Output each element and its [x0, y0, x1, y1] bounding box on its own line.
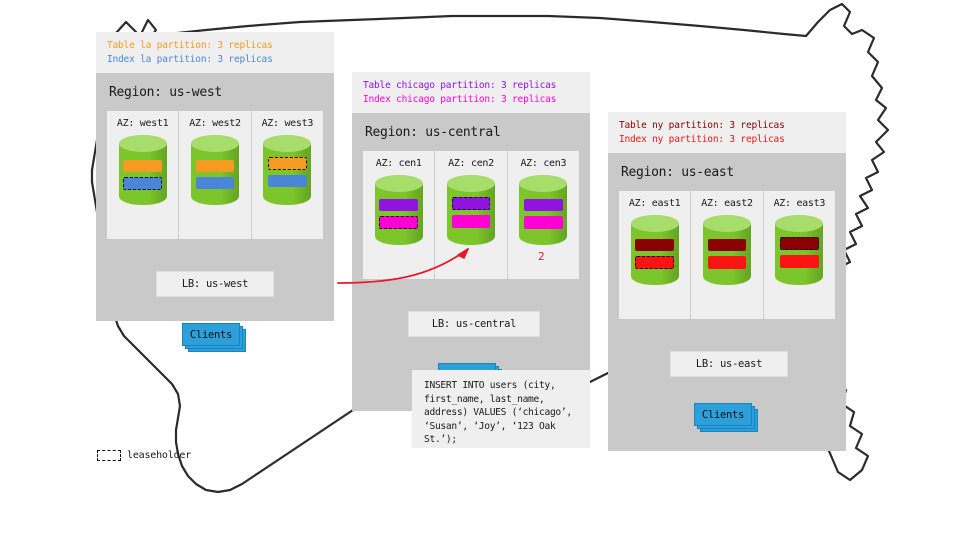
legend-line-index: Index la partition: 3 replicas: [107, 53, 324, 67]
leaseholder-key-label: leaseholder: [127, 450, 191, 461]
replica-band-index-leaseholder: [123, 177, 161, 190]
cylinder-body: [703, 223, 751, 285]
az-box-east2[interactable]: AZ: east2: [691, 191, 763, 319]
cylinder-top: [775, 215, 823, 232]
az-label: AZ: cen2: [435, 158, 506, 169]
az-box-west1[interactable]: AZ: west1: [107, 111, 179, 239]
clients-label[interactable]: Clients: [182, 323, 240, 346]
az-label: AZ: east3: [764, 198, 835, 209]
database-cylinder-cen1[interactable]: [375, 175, 423, 251]
replica-band-index: [268, 175, 306, 187]
replica-band-table: [379, 199, 417, 211]
az-label: AZ: cen1: [363, 158, 434, 169]
region-cluster-us-west: Table la partition: 3 replicas Index la …: [96, 32, 334, 321]
region-cluster-us-east: Table ny partition: 3 replicas Index ny …: [608, 112, 846, 451]
az-label: AZ: cen3: [508, 158, 579, 169]
database-cylinder-east3[interactable]: [775, 215, 823, 291]
replica-band-table-leaseholder: [268, 157, 306, 170]
leaseholder-swatch-icon: [97, 450, 121, 461]
az-label: AZ: west3: [252, 118, 323, 129]
legend-band-us-central: Table chicago partition: 3 replicas Inde…: [352, 72, 590, 113]
replica-band-table: [635, 239, 673, 251]
cylinder-top: [191, 135, 239, 152]
az-row-us-central: AZ: cen1 AZ: cen2: [363, 151, 579, 279]
region-title: Region: us-west: [109, 85, 323, 100]
cylinder-top: [119, 135, 167, 152]
database-cylinder-west2[interactable]: [191, 135, 239, 211]
replica-band-index-leaseholder: [379, 216, 417, 229]
replica-band-table: [196, 160, 234, 172]
database-cylinder-west1[interactable]: [119, 135, 167, 211]
legend-line-table: Table ny partition: 3 replicas: [619, 119, 836, 133]
replica-band-index: [452, 215, 490, 228]
replica-band-table: [708, 239, 746, 251]
cylinder-top: [631, 215, 679, 232]
replica-band-table-leaseholder: [452, 197, 490, 210]
diagram-canvas: Table la partition: 3 replicas Index la …: [0, 0, 960, 540]
region-title: Region: us-central: [365, 125, 579, 140]
cylinder-top: [703, 215, 751, 232]
region-panel-us-east: Region: us-east AZ: east1 AZ: east2: [608, 153, 846, 451]
az-box-west3[interactable]: AZ: west3: [252, 111, 323, 239]
cylinder-body: [191, 143, 239, 205]
database-cylinder-cen2[interactable]: [447, 175, 495, 251]
legend-line-index: Index ny partition: 3 replicas: [619, 133, 836, 147]
database-cylinder-east2[interactable]: [703, 215, 751, 291]
database-cylinder-cen3[interactable]: [519, 175, 567, 251]
az-label: AZ: east1: [619, 198, 690, 209]
legend-line-index: Index chicago partition: 3 replicas: [363, 93, 580, 107]
region-cluster-us-central: Table chicago partition: 3 replicas Inde…: [352, 72, 590, 411]
legend-band-us-west: Table la partition: 3 replicas Index la …: [96, 32, 334, 73]
az-box-east3[interactable]: AZ: east3: [764, 191, 835, 319]
az-label: AZ: east2: [691, 198, 762, 209]
cylinder-body: [447, 183, 495, 245]
cylinder-body: [519, 183, 567, 245]
replica-band-table: [524, 199, 562, 211]
replica-band-table: [123, 160, 161, 172]
az-box-cen2[interactable]: AZ: cen2: [435, 151, 507, 279]
cylinder-top: [375, 175, 423, 192]
az-row-us-west: AZ: west1 AZ: west2: [107, 111, 323, 239]
replica-band-index: [708, 256, 746, 269]
sql-statement-callout: INSERT INTO users (city, first_name, las…: [412, 370, 590, 448]
legend-line-table: Table chicago partition: 3 replicas: [363, 79, 580, 93]
region-title: Region: us-east: [621, 165, 835, 180]
load-balancer-us-west[interactable]: LB: us-west: [156, 271, 274, 297]
cylinder-top: [447, 175, 495, 192]
clients-label[interactable]: Clients: [694, 403, 752, 426]
database-cylinder-east1[interactable]: [631, 215, 679, 291]
replica-band-index: [524, 216, 562, 229]
annotation-number-2: 2: [538, 250, 544, 263]
cylinder-top: [519, 175, 567, 192]
region-panel-us-west: Region: us-west AZ: west1 AZ: west2: [96, 73, 334, 321]
load-balancer-us-east[interactable]: LB: us-east: [670, 351, 788, 377]
az-box-east1[interactable]: AZ: east1: [619, 191, 691, 319]
replica-band-table-leaseholder: [780, 237, 818, 250]
cylinder-body: [263, 143, 311, 205]
az-box-west2[interactable]: AZ: west2: [179, 111, 251, 239]
az-row-us-east: AZ: east1 AZ: east2: [619, 191, 835, 319]
database-cylinder-west3[interactable]: [263, 135, 311, 211]
cylinder-body: [375, 183, 423, 245]
az-box-cen1[interactable]: AZ: cen1: [363, 151, 435, 279]
cylinder-body: [119, 143, 167, 205]
replica-band-index: [196, 177, 234, 189]
az-label: AZ: west1: [107, 118, 178, 129]
clients-button-us-west[interactable]: Clients: [182, 323, 240, 346]
replica-band-index-leaseholder: [635, 256, 673, 269]
leaseholder-key: leaseholder: [97, 450, 191, 461]
cylinder-top: [263, 135, 311, 152]
load-balancer-us-central[interactable]: LB: us-central: [408, 311, 540, 337]
cylinder-body: [631, 223, 679, 285]
replica-band-index: [780, 255, 818, 268]
cylinder-body: [775, 223, 823, 285]
legend-line-table: Table la partition: 3 replicas: [107, 39, 324, 53]
az-label: AZ: west2: [179, 118, 250, 129]
region-panel-us-central: Region: us-central AZ: cen1 AZ: cen2: [352, 113, 590, 411]
legend-band-us-east: Table ny partition: 3 replicas Index ny …: [608, 112, 846, 153]
clients-button-us-east[interactable]: Clients: [694, 403, 752, 426]
